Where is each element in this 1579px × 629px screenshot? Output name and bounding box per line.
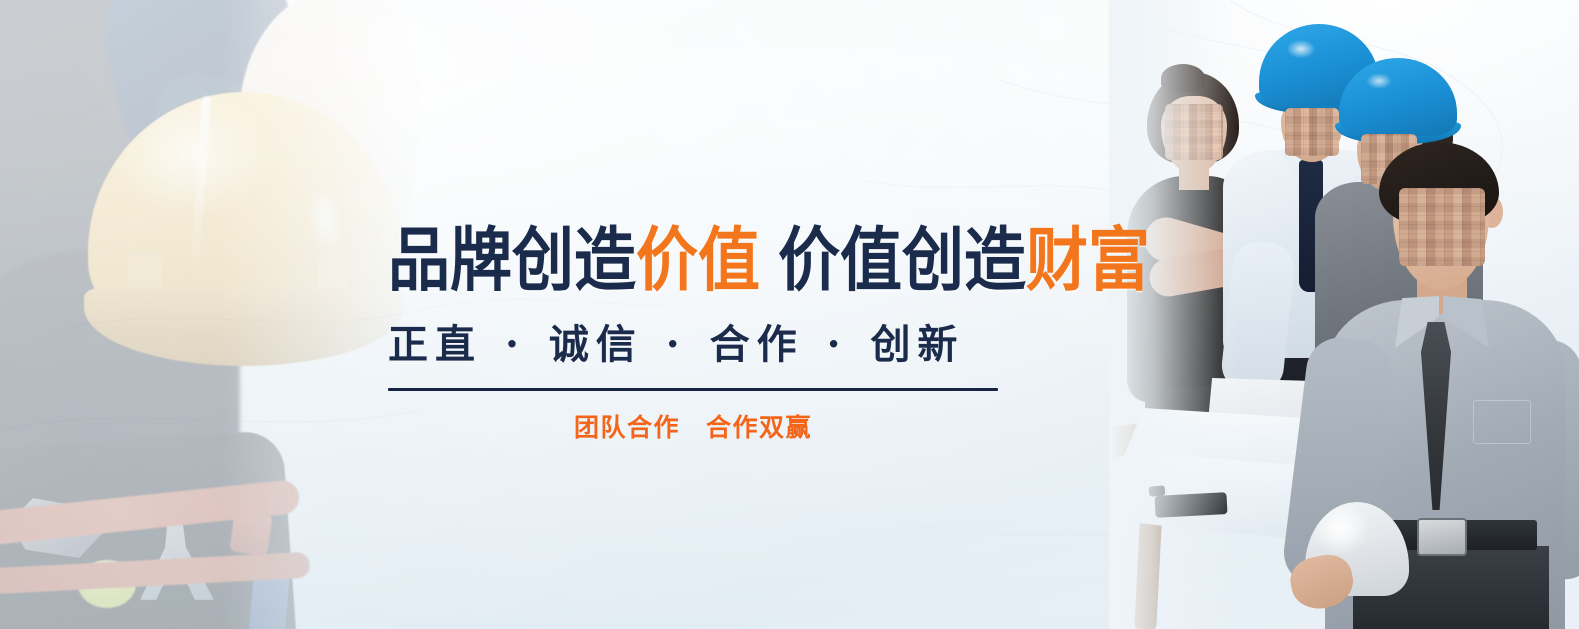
subline-item-0: 正直 [388,321,482,368]
subline-separator: · [503,321,528,368]
belt-buckle [1417,518,1467,556]
subline-separator: · [664,321,689,368]
subline-separator: · [825,321,850,368]
horizontal-divider [388,388,998,391]
headline-part1-accent: 价值 [636,219,760,301]
subline: 正直 · 诚信 · 合作 · 创新 [388,312,1028,370]
headline-part1: 品牌创造 [388,219,636,301]
pixelated-face [1399,188,1485,266]
pixelated-face [1285,108,1339,156]
promo-banner: 品牌创造价值价值创造财富 正直 · 诚信 · 合作 · 创新 团队合作合作双赢 [0,0,1579,629]
right-team-photo [1109,0,1579,629]
subline-item-3: 创新 [870,321,964,368]
tagline-left: 团队合作 [574,413,680,442]
headline-part2: 价值创造 [778,219,1026,301]
photo-edge-fade [1109,0,1239,629]
left-worker-photo [0,0,430,629]
subline-item-2: 合作 [710,321,804,368]
headline: 品牌创造价值价值创造财富 [388,226,1028,295]
banner-text-block: 品牌创造价值价值创造财富 正直 · 诚信 · 合作 · 创新 团队合作合作双赢 [388,226,1028,444]
tagline: 团队合作合作双赢 [388,408,998,444]
subline-item-1: 诚信 [549,321,643,368]
tagline-right: 合作双赢 [706,413,812,442]
headline-part2-accent: 财富 [1026,219,1150,301]
